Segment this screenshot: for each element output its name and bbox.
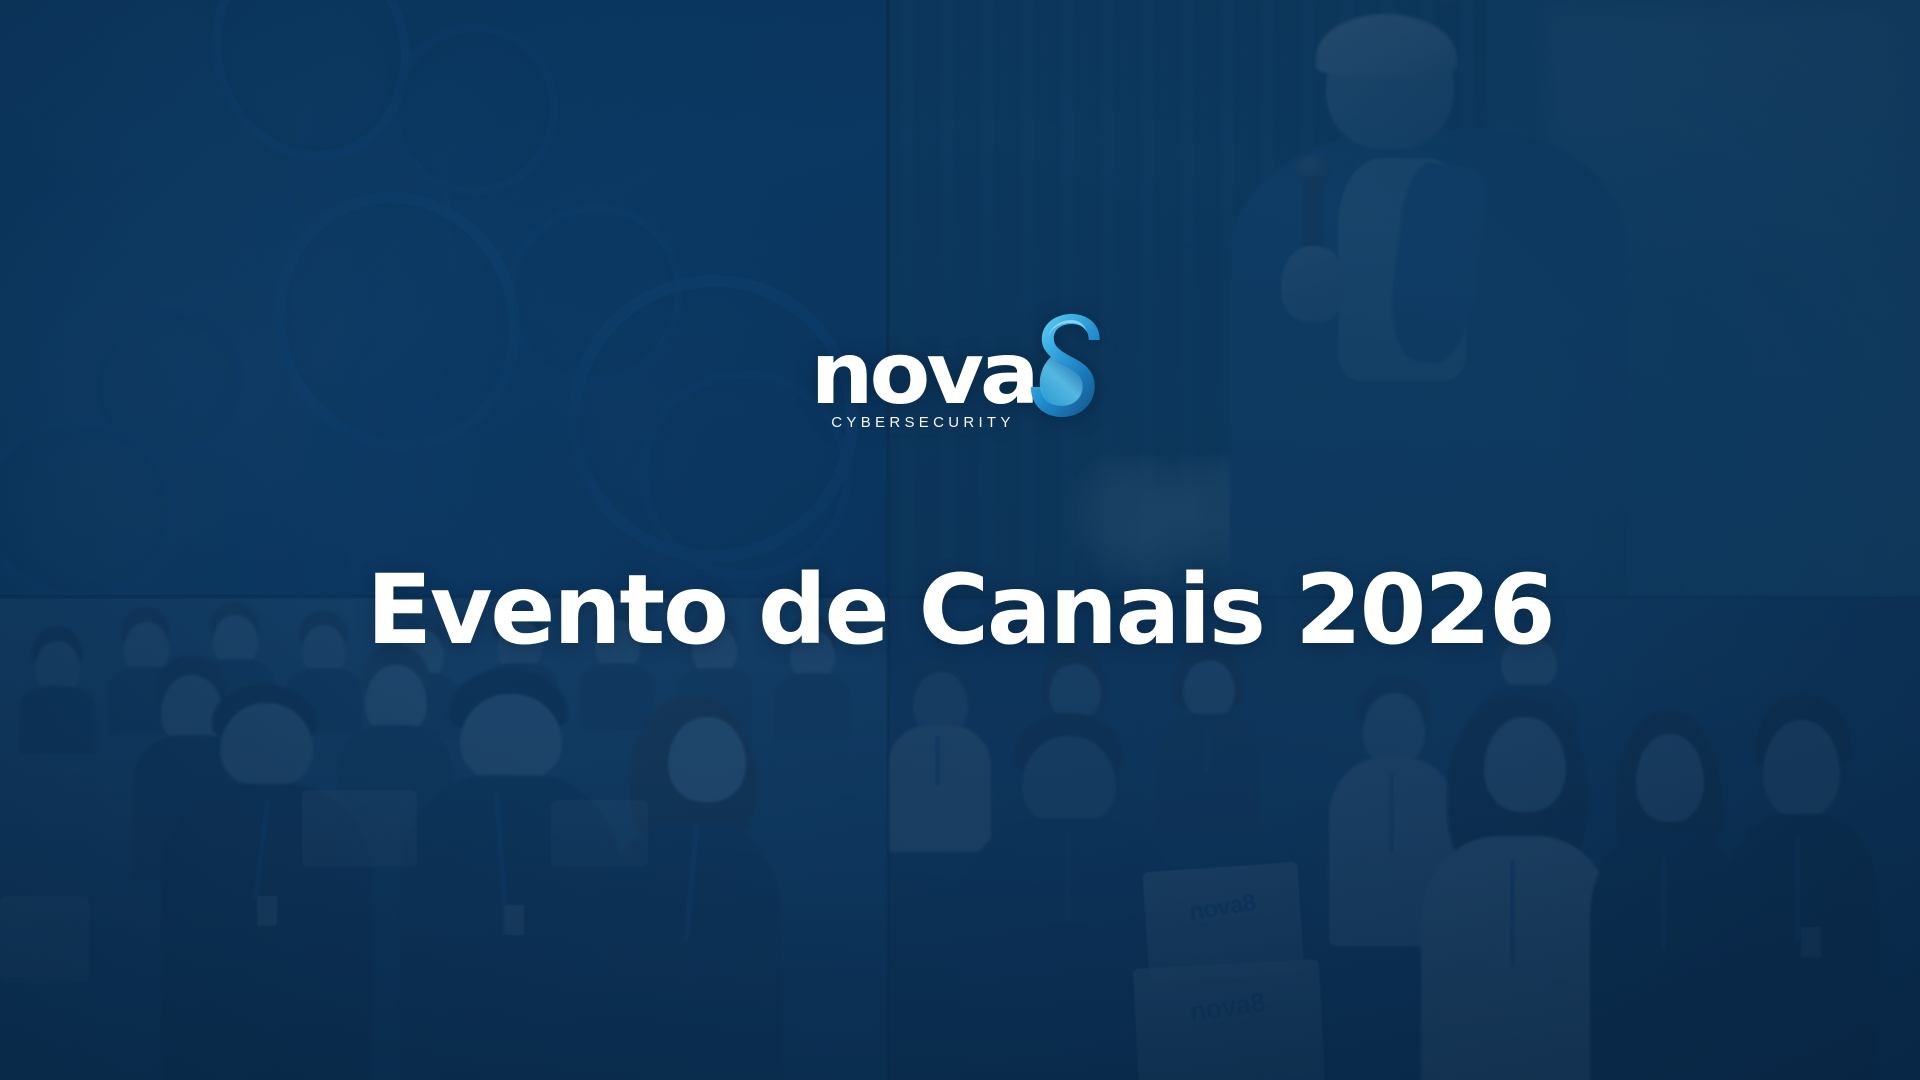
logo-wordmark: nova (811, 338, 1036, 412)
tint-speaker (888, 0, 1920, 597)
nova8-logo: nova CYBERSECURITY (814, 338, 1106, 432)
quadrant-balloons (0, 0, 888, 597)
event-banner: nova8 CYBERSECURITY nova8 CYBERSECURITY (0, 0, 1920, 1080)
quadrant-speaker (888, 0, 1920, 597)
logo-numeral-eight-icon (1028, 310, 1106, 432)
page-title: Evento de Canais 2026 (367, 562, 1554, 660)
logo-wordmark-group: nova CYBERSECURITY (814, 338, 1032, 431)
quadrant-audience-left (0, 597, 888, 1080)
quadrant-audience-right: nova8 CYBERSECURITY nova8 CYBERSECURITY (888, 597, 1920, 1080)
logo-tagline: CYBERSECURITY (831, 414, 1014, 431)
tint-balloons (0, 0, 888, 597)
tint-audience-left (0, 597, 888, 1080)
photo-collage: nova8 CYBERSECURITY nova8 CYBERSECURITY (0, 0, 1920, 1080)
page-title-text: Evento de Canais 2026 (367, 554, 1554, 666)
tint-audience-right (888, 597, 1920, 1080)
